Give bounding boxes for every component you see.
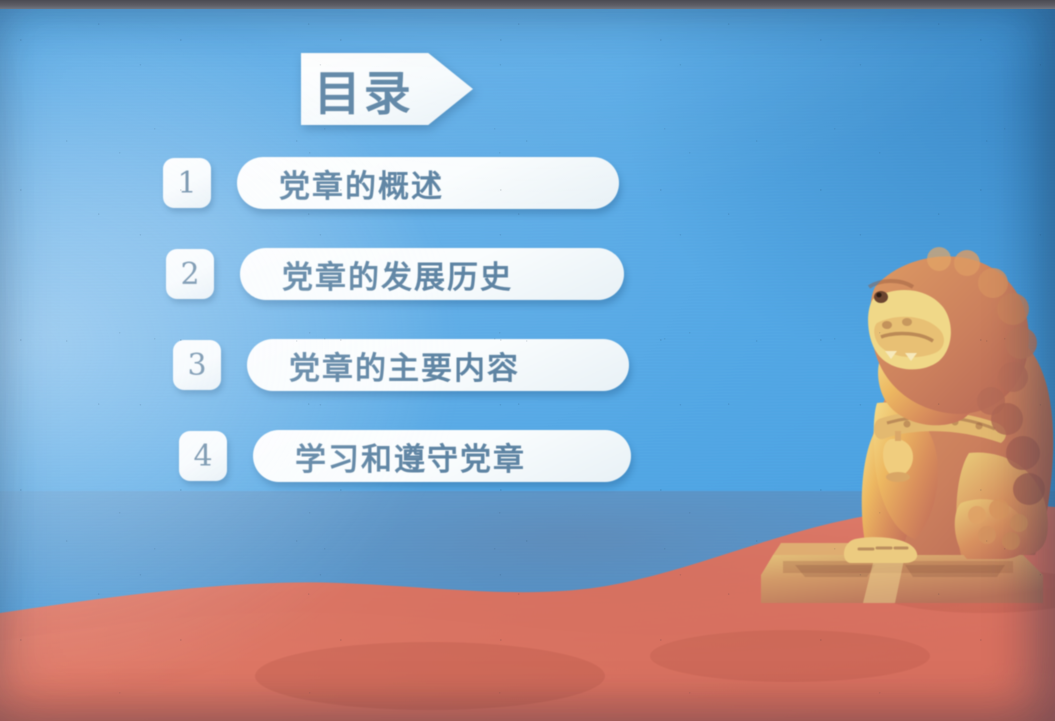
toc-item-pill[interactable]: 学习和遵守党章 (253, 430, 631, 482)
toc-item-pill[interactable]: 党章的主要内容 (247, 339, 629, 391)
toc-item-label: 党章的概述 (279, 161, 444, 206)
toc-item-label: 党章的主要内容 (289, 343, 520, 388)
toc-item-pill[interactable]: 党章的发展历史 (240, 248, 624, 300)
toc-item-label: 党章的发展历史 (282, 252, 513, 297)
toc-item-label: 学习和遵守党章 (295, 434, 526, 479)
toc-item-pill[interactable]: 党章的概述 (237, 157, 619, 209)
projected-slide-photo: 目录 1 党章的概述 2 党章的发展历史 3 党章的主要内容 (0, 0, 1055, 721)
toc-list: 1 党章的概述 2 党章的发展历史 3 党章的主要内容 4 (0, 157, 720, 521)
red-hill-ribbon (0, 491, 1055, 721)
presentation-slide: 目录 1 党章的概述 2 党章的发展历史 3 党章的主要内容 (0, 7, 1055, 721)
toc-number-badge: 4 (179, 431, 227, 481)
toc-number-badge: 2 (166, 249, 214, 299)
page-title: 目录 (301, 53, 427, 125)
toc-item-4[interactable]: 4 学习和遵守党章 (0, 430, 720, 482)
toc-item-2[interactable]: 2 党章的发展历史 (0, 248, 720, 300)
toc-item-1[interactable]: 1 党章的概述 (0, 157, 720, 209)
slide-title-banner: 目录 (301, 53, 473, 125)
guardian-lion-statue (755, 203, 1055, 603)
toc-item-3[interactable]: 3 党章的主要内容 (0, 339, 720, 391)
toc-number-badge: 1 (163, 158, 211, 208)
toc-number-badge: 3 (173, 340, 221, 390)
